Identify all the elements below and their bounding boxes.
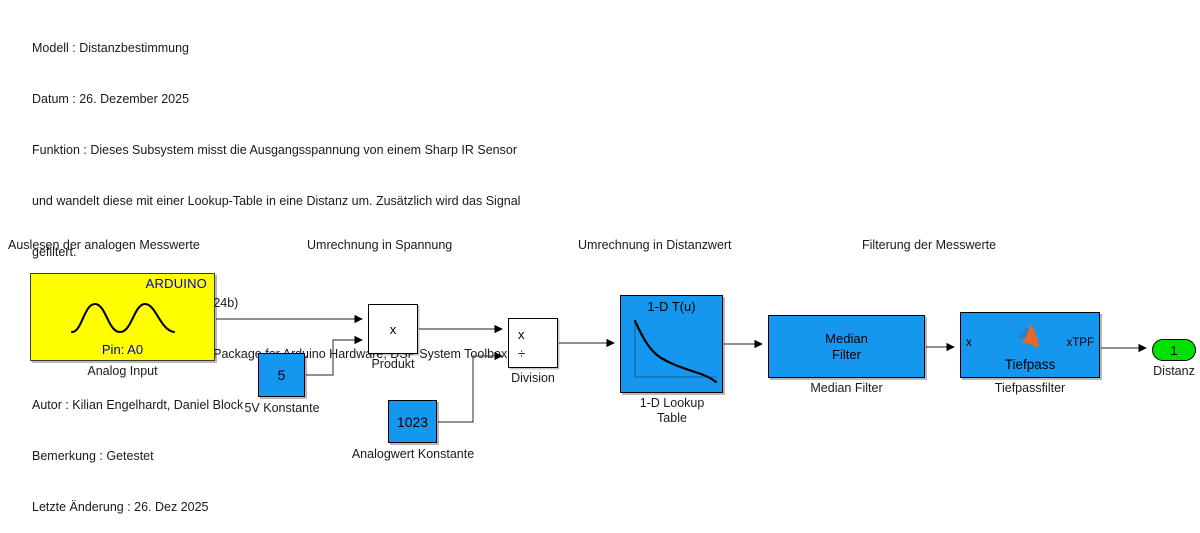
decaying-curve-icon — [621, 314, 724, 394]
section-caption-distance-conversion: Umrechnung in Distanzwert — [578, 238, 732, 252]
block-caption-outport-distanz: Distanz — [1142, 364, 1200, 379]
block-caption-tiefpass-filter: Tiefpassfilter — [960, 381, 1100, 396]
block-caption-produkt: Produkt — [343, 357, 443, 372]
divide-sign: ÷ — [518, 347, 525, 360]
block-analog-input[interactable]: ARDUINO Pin: A0 — [30, 273, 215, 361]
multiply-sign: x — [518, 328, 525, 341]
outport-number: 1 — [1153, 340, 1195, 360]
port-label-output-xtpf: xTPF — [1067, 337, 1094, 349]
block-lookup-table[interactable]: 1-D T(u) — [620, 295, 723, 393]
header-line: Funktion : Dieses Subsystem misst die Au… — [32, 142, 732, 159]
matlab-membrane-icon — [1015, 323, 1045, 349]
multiply-sign: x — [369, 305, 417, 353]
header-line: Datum : 26. Dezember 2025 — [32, 91, 732, 108]
block-caption-division: Division — [483, 371, 583, 386]
lookup-table-expression: 1-D T(u) — [621, 299, 722, 314]
block-division[interactable]: x ÷ — [508, 318, 558, 368]
block-caption-constant-5v: 5V Konstante — [212, 401, 352, 416]
header-line: und wandelt diese mit einer Lookup-Table… — [32, 193, 732, 210]
block-constant-analog[interactable]: 1023 — [388, 400, 437, 443]
block-constant-5v[interactable]: 5 — [258, 353, 305, 397]
section-caption-voltage-conversion: Umrechnung in Spannung — [307, 238, 452, 252]
block-tiefpass-filter[interactable]: x xTPF Tiefpass — [960, 312, 1100, 378]
block-caption-analog-input: Analog Input — [30, 364, 215, 379]
header-line: Modell : Distanzbestimmung — [32, 40, 732, 57]
block-median-filter[interactable]: Median Filter — [768, 315, 925, 378]
arduino-pin-label: Pin: A0 — [31, 342, 214, 357]
header-line: Letzte Änderung : 26. Dez 2025 — [32, 499, 732, 516]
block-produkt[interactable]: x — [368, 304, 418, 354]
section-caption-analog-read: Auslesen der analogen Messwerte — [8, 238, 200, 252]
section-caption-filtering: Filterung der Messwerte — [862, 238, 996, 252]
block-outport-distanz[interactable]: 1 — [1152, 339, 1196, 361]
tiefpass-inner-label: Tiefpass — [961, 357, 1099, 372]
port-label-input-x: x — [966, 337, 972, 349]
median-filter-label: Median Filter — [769, 316, 924, 377]
block-caption-median-filter: Median Filter — [768, 381, 925, 396]
constant-value-1023: 1023 — [389, 401, 436, 442]
arduino-brand-label: ARDUINO — [146, 276, 207, 291]
constant-value-5v: 5 — [259, 354, 304, 396]
block-caption-constant-analog: Analogwert Konstante — [338, 447, 488, 462]
block-caption-lookup-table: 1-D Lookup Table — [608, 396, 736, 426]
sine-wave-icon — [68, 300, 178, 336]
